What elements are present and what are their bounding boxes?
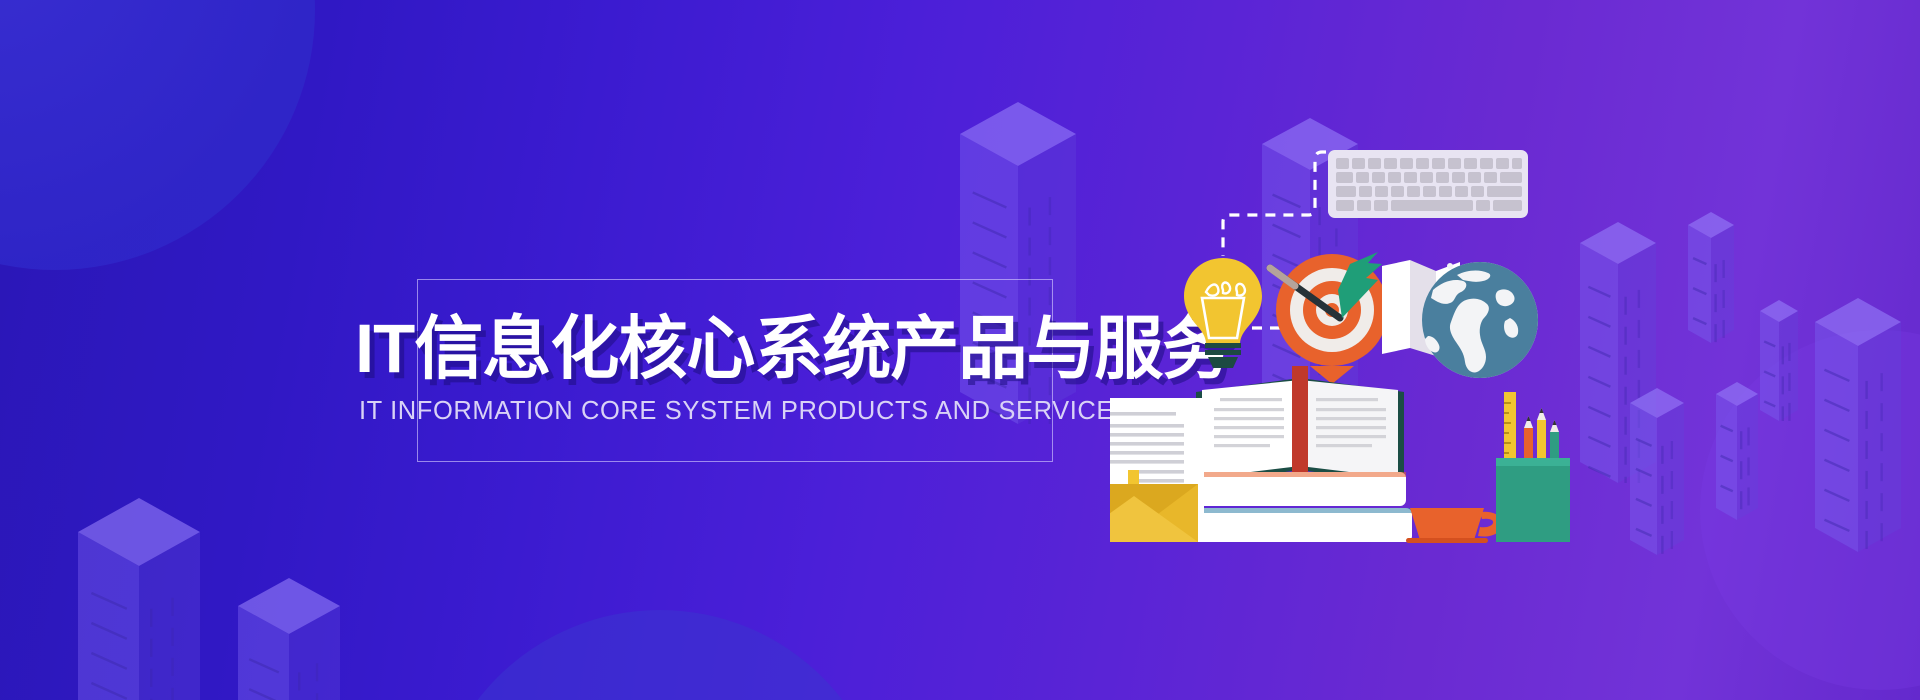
- building-icon: [238, 578, 340, 700]
- keyboard-icon: [1328, 150, 1528, 218]
- envelope-document-icon: [1110, 398, 1204, 542]
- stacked-books-icon: [1180, 472, 1412, 542]
- target-arrow-icon: [1270, 252, 1388, 384]
- coffee-cup-icon: [1406, 508, 1502, 543]
- page-subtitle: IT INFORMATION CORE SYSTEM PRODUCTS AND …: [359, 396, 1115, 426]
- building-icon: [1688, 212, 1734, 343]
- globe-icon: [1422, 262, 1538, 378]
- headline-block: IT信息化核心系统产品与服务 IT INFORMATION CORE SYSTE…: [355, 310, 1115, 426]
- decorative-circle-right: [1700, 330, 1920, 690]
- page-title: IT信息化核心系统产品与服务: [355, 310, 1115, 388]
- building-icon: [1760, 300, 1798, 421]
- building-icon: [1630, 388, 1684, 555]
- building-icon: [1815, 298, 1901, 552]
- building-icon: [78, 498, 200, 700]
- decorative-circle-top-left: [0, 0, 315, 270]
- decorative-circle-bottom: [430, 610, 890, 700]
- building-icon: [1716, 382, 1758, 520]
- hero-illustration: [1110, 140, 1570, 570]
- lightbulb-icon: [1184, 258, 1262, 368]
- hero-banner: IT信息化核心系统产品与服务 IT INFORMATION CORE SYSTE…: [0, 0, 1920, 700]
- building-icon: [1580, 222, 1656, 483]
- pencil-holder-icon: [1496, 392, 1570, 542]
